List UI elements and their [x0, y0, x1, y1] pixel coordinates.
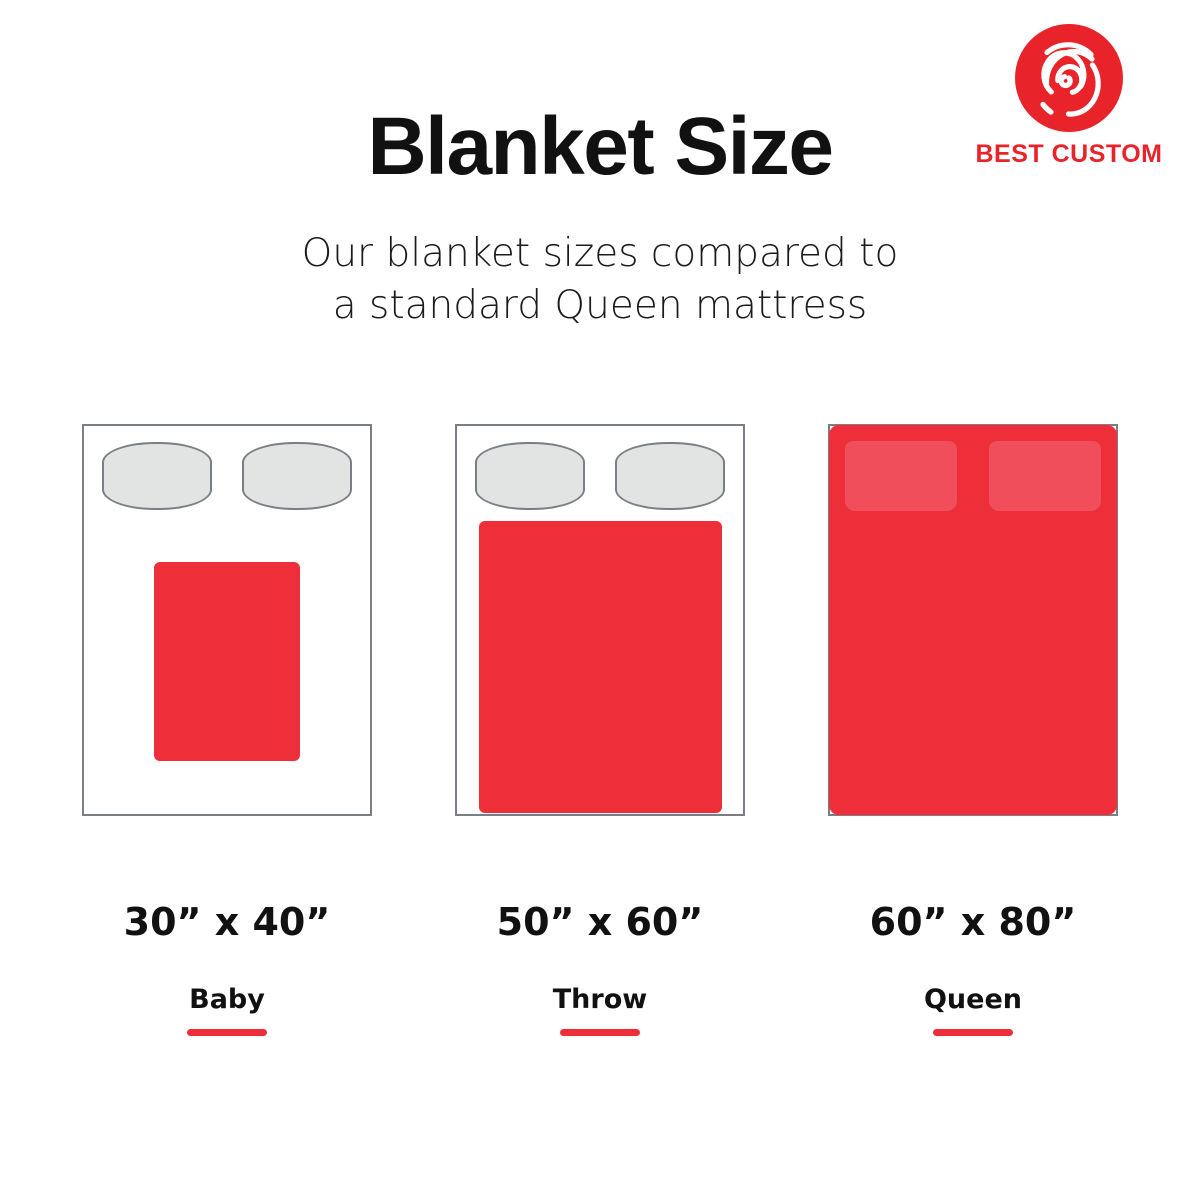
caption-underline: [560, 1029, 640, 1036]
bed-diagram-baby: [82, 424, 372, 816]
blanket-baby: [154, 562, 300, 761]
bed-diagrams-row: [0, 424, 1200, 819]
page-title: Blanket Size: [0, 104, 1200, 190]
caption-baby: 30” x 40” Baby: [82, 900, 372, 1036]
caption-underline: [187, 1029, 267, 1036]
pillow-right: [989, 441, 1101, 511]
pillow-right: [615, 442, 725, 510]
caption-name: Queen: [828, 984, 1118, 1015]
caption-name: Baby: [82, 984, 372, 1015]
caption-throw: 50” x 60” Throw: [455, 900, 745, 1036]
caption-name: Throw: [455, 984, 745, 1015]
blanket-throw: [479, 521, 722, 813]
pillow-left: [475, 442, 585, 510]
caption-dimensions: 50” x 60”: [455, 900, 745, 944]
bed-diagram-queen: [828, 424, 1118, 816]
pillow-left: [102, 442, 212, 510]
caption-queen: 60” x 80” Queen: [828, 900, 1118, 1036]
page-subtitle-line-2: a standard Queen mattress: [0, 280, 1200, 332]
caption-dimensions: 30” x 40”: [82, 900, 372, 944]
blanket-queen: [829, 425, 1117, 815]
page-subtitle: Our blanket sizes compared to a standard…: [0, 228, 1200, 332]
caption-dimensions: 60” x 80”: [828, 900, 1118, 944]
pillow-left: [845, 441, 957, 511]
page-subtitle-line-1: Our blanket sizes compared to: [0, 228, 1200, 280]
bed-diagram-throw: [455, 424, 745, 816]
caption-underline: [933, 1029, 1013, 1036]
pillow-right: [242, 442, 352, 510]
captions-row: 30” x 40” Baby 50” x 60” Throw 60” x 80”…: [0, 900, 1200, 1050]
